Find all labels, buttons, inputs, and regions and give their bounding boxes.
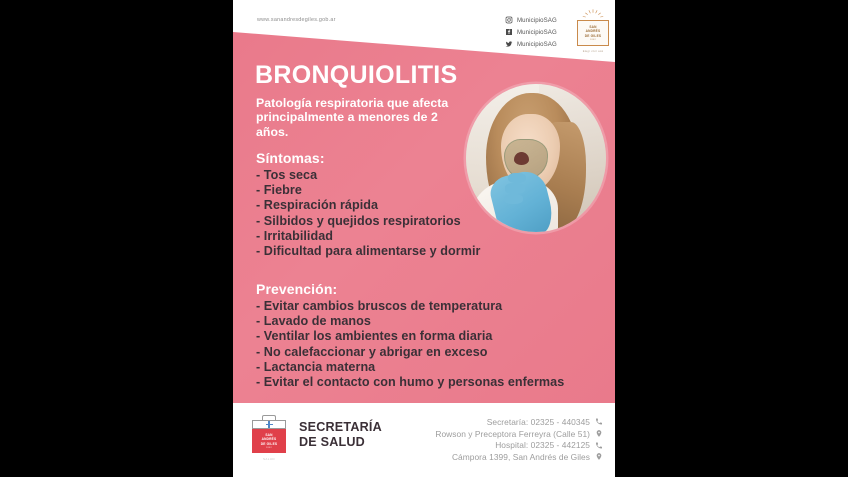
list-item: - No calefaccionar y abrigar en exceso bbox=[256, 345, 564, 360]
contact-text: Rowson y Preceptora Ferreyra (Calle 51) bbox=[435, 429, 590, 439]
list-item: - Ventilar los ambientes en forma diaria bbox=[256, 329, 564, 344]
contact-info: Secretaría: 02325 - 440345 Rowson y Prec… bbox=[435, 416, 603, 463]
section-heading-prevencion: Prevención: bbox=[256, 281, 337, 297]
list-item: - Lavado de manos bbox=[256, 314, 564, 329]
health-department-logo: SAN ANDRÉS DE GILES 1862 SALUD bbox=[248, 414, 290, 466]
list-item: - Evitar el contacto con humo y personas… bbox=[256, 375, 564, 390]
prevention-list: - Evitar cambios bruscos de temperatura … bbox=[256, 299, 564, 390]
health-logo-line3: DE GILES bbox=[261, 442, 277, 446]
contact-row-address-2: Cámpora 1399, San Andrés de Giles bbox=[435, 451, 603, 463]
section-heading-sintomas: Síntomas: bbox=[256, 150, 325, 166]
medical-cross-icon bbox=[266, 421, 273, 428]
department-title: SECRETARÍA DE SALUD bbox=[299, 420, 382, 449]
list-item: - Respiración rápida bbox=[256, 198, 480, 213]
screenshot-stage: www.sanandresdegiles.gob.ar MunicipioSAG… bbox=[0, 0, 848, 477]
location-pin-icon bbox=[595, 452, 603, 461]
page-title: BRONQUIOLITIS bbox=[255, 63, 458, 88]
infographic-poster: www.sanandresdegiles.gob.ar MunicipioSAG… bbox=[233, 0, 615, 477]
list-item: - Silbidos y quejidos respiratorios bbox=[256, 214, 480, 229]
list-item: - Lactancia materna bbox=[256, 360, 564, 375]
medical-kit-top bbox=[252, 420, 286, 429]
contact-row-hospital: Hospital: 02325 - 442125 bbox=[435, 439, 603, 451]
poster-lead: Patología respiratoria que afecta princi… bbox=[256, 96, 471, 139]
phone-icon bbox=[595, 441, 603, 450]
department-title-line1: SECRETARÍA bbox=[299, 420, 382, 435]
health-logo-year: 1862 bbox=[266, 447, 272, 449]
health-logo-caption: SALUD bbox=[248, 457, 290, 461]
list-item: - Dificultad para alimentarse y dormir bbox=[256, 244, 480, 259]
contact-text: Cámpora 1399, San Andrés de Giles bbox=[452, 452, 590, 462]
contact-text: Hospital: 02325 - 442125 bbox=[495, 440, 590, 450]
department-title-line2: DE SALUD bbox=[299, 435, 382, 450]
medical-kit-body: SAN ANDRÉS DE GILES 1862 bbox=[252, 429, 286, 453]
poster-footer: SAN ANDRÉS DE GILES 1862 SALUD SECRETARÍ… bbox=[233, 403, 615, 477]
nebulizer-photo bbox=[466, 84, 606, 232]
list-item: - Fiebre bbox=[256, 183, 480, 198]
phone-icon bbox=[595, 417, 603, 426]
contact-row-address-1: Rowson y Preceptora Ferreyra (Calle 51) bbox=[435, 428, 603, 440]
symptoms-list: - Tos seca - Fiebre - Respiración rápida… bbox=[256, 168, 480, 259]
location-pin-icon bbox=[595, 429, 603, 438]
contact-text: Secretaría: 02325 - 440345 bbox=[487, 417, 590, 427]
list-item: - Irritabilidad bbox=[256, 229, 480, 244]
list-item: - Tos seca bbox=[256, 168, 480, 183]
contact-row-secretaria: Secretaría: 02325 - 440345 bbox=[435, 416, 603, 428]
list-item: - Evitar cambios bruscos de temperatura bbox=[256, 299, 564, 314]
poster-content: BRONQUIOLITIS Patología respiratoria que… bbox=[233, 0, 615, 403]
